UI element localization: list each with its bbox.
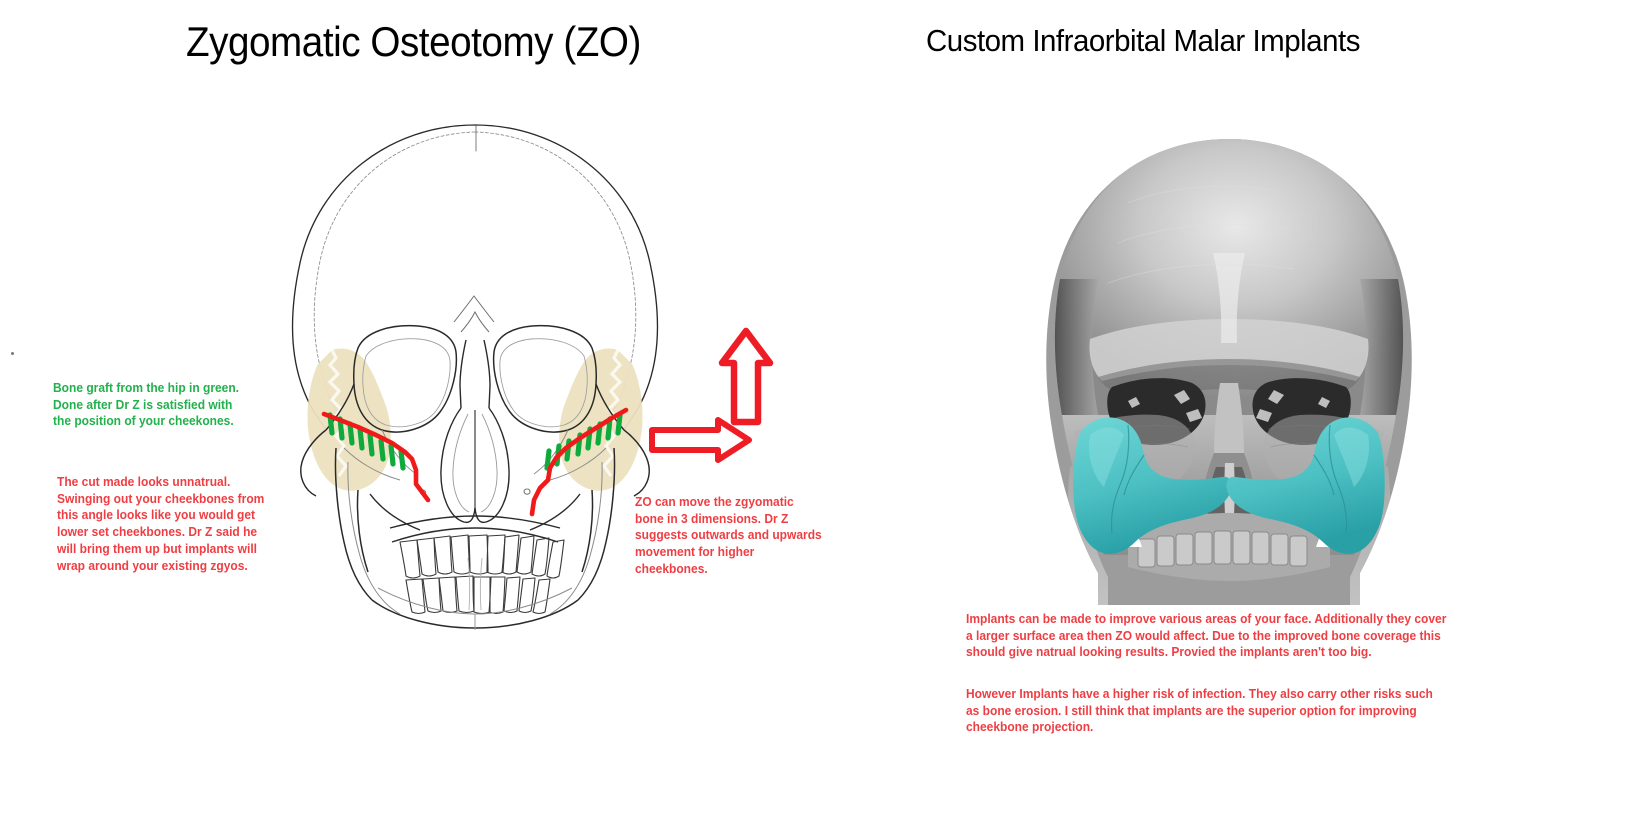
arrow-right-icon <box>648 416 753 464</box>
bone-graft-note: Bone graft from the hip in green. Done a… <box>53 380 250 430</box>
implant-risk-note: However Implants have a higher risk of i… <box>966 686 1448 736</box>
zo-movement-note: ZO can move the zgyomatic bone in 3 dime… <box>635 494 822 578</box>
arrow-up-icon <box>718 327 774 427</box>
ct-3d-skull-render <box>978 133 1480 605</box>
implant-benefit-note: Implants can be made to improve various … <box>966 611 1448 661</box>
right-panel-title: Custom Infraorbital Malar Implants <box>926 23 1360 59</box>
left-panel-title: Zygomatic Osteotomy (ZO) <box>186 18 641 66</box>
stray-dot-mark <box>11 352 14 355</box>
osteotomy-cut-note: The cut made looks unnatrual. Swinging o… <box>57 474 280 574</box>
